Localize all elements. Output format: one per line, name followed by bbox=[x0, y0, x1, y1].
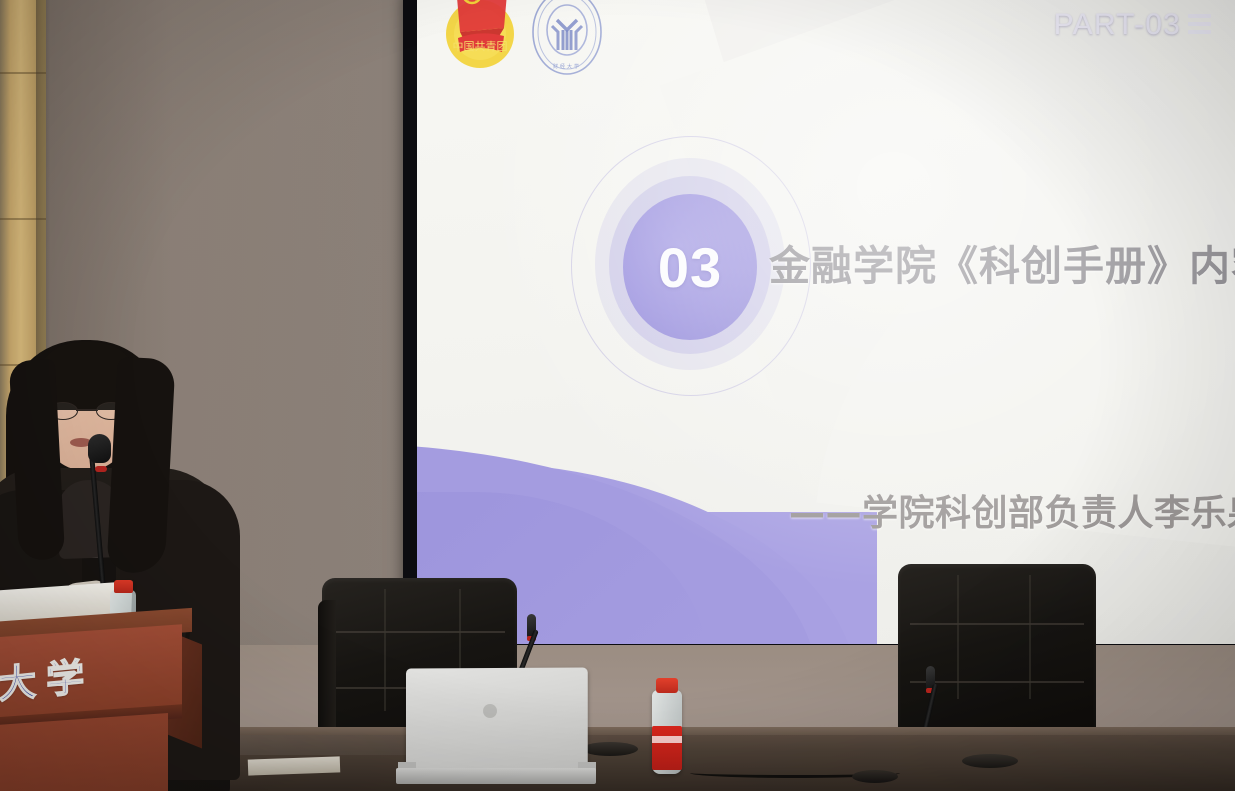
laptop-lid bbox=[406, 667, 588, 776]
svg-text:中国共青团: 中国共青团 bbox=[453, 40, 508, 53]
part-label-text: PART-03 bbox=[1054, 8, 1181, 42]
podium-microphone-head bbox=[88, 434, 111, 463]
table-microphone-base bbox=[582, 742, 638, 756]
svg-text:财经大学: 财经大学 bbox=[553, 63, 581, 70]
water-bottle-cap bbox=[656, 678, 678, 693]
laptop-base bbox=[396, 768, 596, 784]
podium-base bbox=[0, 713, 168, 791]
slide-part-label: PART-03 bbox=[1054, 8, 1211, 42]
presentation-slide: 中国共青团 UNIVERSITY OF F bbox=[417, 0, 1235, 644]
university-seal-emblem-icon: UNIVERSITY OF FINANCE 财经大学 bbox=[521, 0, 613, 84]
projection-screen: 中国共青团 UNIVERSITY OF F bbox=[417, 0, 1235, 644]
badge-core: 03 bbox=[623, 194, 757, 340]
table-microphone-base bbox=[962, 754, 1018, 768]
slide-subtitle: ——学院科创部负责人李乐泉同学 bbox=[789, 484, 1235, 536]
podium: 经大学 bbox=[0, 600, 230, 791]
podium-water-bottle-cap bbox=[114, 580, 133, 593]
laptop-logo-icon bbox=[483, 704, 497, 718]
section-number-text: 03 bbox=[658, 235, 722, 300]
presentation-photo: 中国共青团 UNIVERSITY OF F bbox=[0, 0, 1235, 791]
slide-title: 金融学院《科创手册》内容介绍 bbox=[769, 232, 1235, 292]
presenter-hair-right bbox=[106, 357, 175, 575]
table-paper bbox=[248, 756, 341, 775]
communist-youth-league-emblem-icon: 中国共青团 bbox=[434, 0, 526, 80]
menu-bars-icon bbox=[1188, 14, 1211, 34]
projection-screen-frame: 中国共青团 UNIVERSITY OF F bbox=[403, 0, 1235, 660]
table-microphone-base bbox=[852, 770, 898, 783]
water-bottle-label-band bbox=[652, 736, 682, 743]
podium-microphone-ring bbox=[95, 466, 107, 472]
water-bottle-label bbox=[652, 726, 682, 770]
